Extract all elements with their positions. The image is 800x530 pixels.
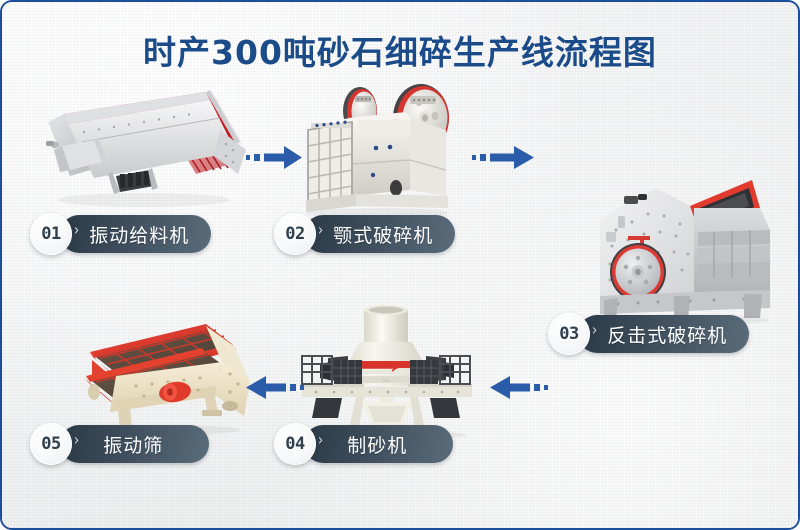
chevron-right-icon: ›: [318, 221, 323, 240]
step-label-04[interactable]: 04 › 制砂机: [274, 424, 453, 464]
step-pill-02[interactable]: › 颚式破碎机: [304, 215, 455, 253]
machine-impact-crusher: [594, 174, 794, 324]
step-label-text-02: 颚式破碎机: [333, 221, 433, 248]
step-label-text-04: 制砂机: [347, 431, 407, 458]
arrow-02-to-03: [472, 144, 534, 170]
machine-sand-making-machine: VSI: [280, 298, 492, 438]
machine-vibrating-feeder: [24, 84, 256, 214]
step-label-01[interactable]: 01 › 振动给料机: [30, 214, 211, 254]
step-label-text-05: 振动筛: [103, 431, 163, 458]
step-label-03[interactable]: 03 › 反击式破碎机: [548, 314, 749, 354]
step-pill-05[interactable]: › 振动筛: [60, 425, 209, 463]
step-label-02[interactable]: 02 › 颚式破碎机: [274, 214, 455, 254]
arrow-03-to-04: [488, 374, 548, 400]
step-pill-03[interactable]: › 反击式破碎机: [578, 315, 749, 353]
page-title: 时产300吨砂石细碎生产线流程图: [2, 26, 798, 74]
machine-jaw-crusher: [298, 78, 468, 218]
flowchart-poster: 时产300吨砂石细碎生产线流程图: [0, 0, 800, 530]
arrow-04-to-05: [244, 374, 304, 400]
chevron-right-icon: ›: [74, 431, 79, 450]
arrow-01-to-02: [246, 144, 302, 170]
chevron-right-icon: ›: [74, 221, 79, 240]
chevron-right-icon: ›: [318, 431, 323, 450]
chevron-right-icon: ›: [592, 321, 597, 340]
step-pill-04[interactable]: › 制砂机: [304, 425, 453, 463]
step-number-badge-02: 02: [274, 213, 316, 255]
step-number-badge-04: 04: [274, 423, 316, 465]
step-pill-01[interactable]: › 振动给料机: [60, 215, 211, 253]
step-number-badge-01: 01: [30, 213, 72, 255]
svg-text:VSI: VSI: [383, 378, 389, 383]
step-label-text-03: 反击式破碎机: [607, 321, 727, 348]
step-label-text-01: 振动给料机: [89, 221, 189, 248]
step-number-badge-05: 05: [30, 423, 72, 465]
step-number-badge-03: 03: [548, 313, 590, 355]
machine-vibrating-screen: [58, 320, 266, 440]
step-label-05[interactable]: 05 › 振动筛: [30, 424, 209, 464]
